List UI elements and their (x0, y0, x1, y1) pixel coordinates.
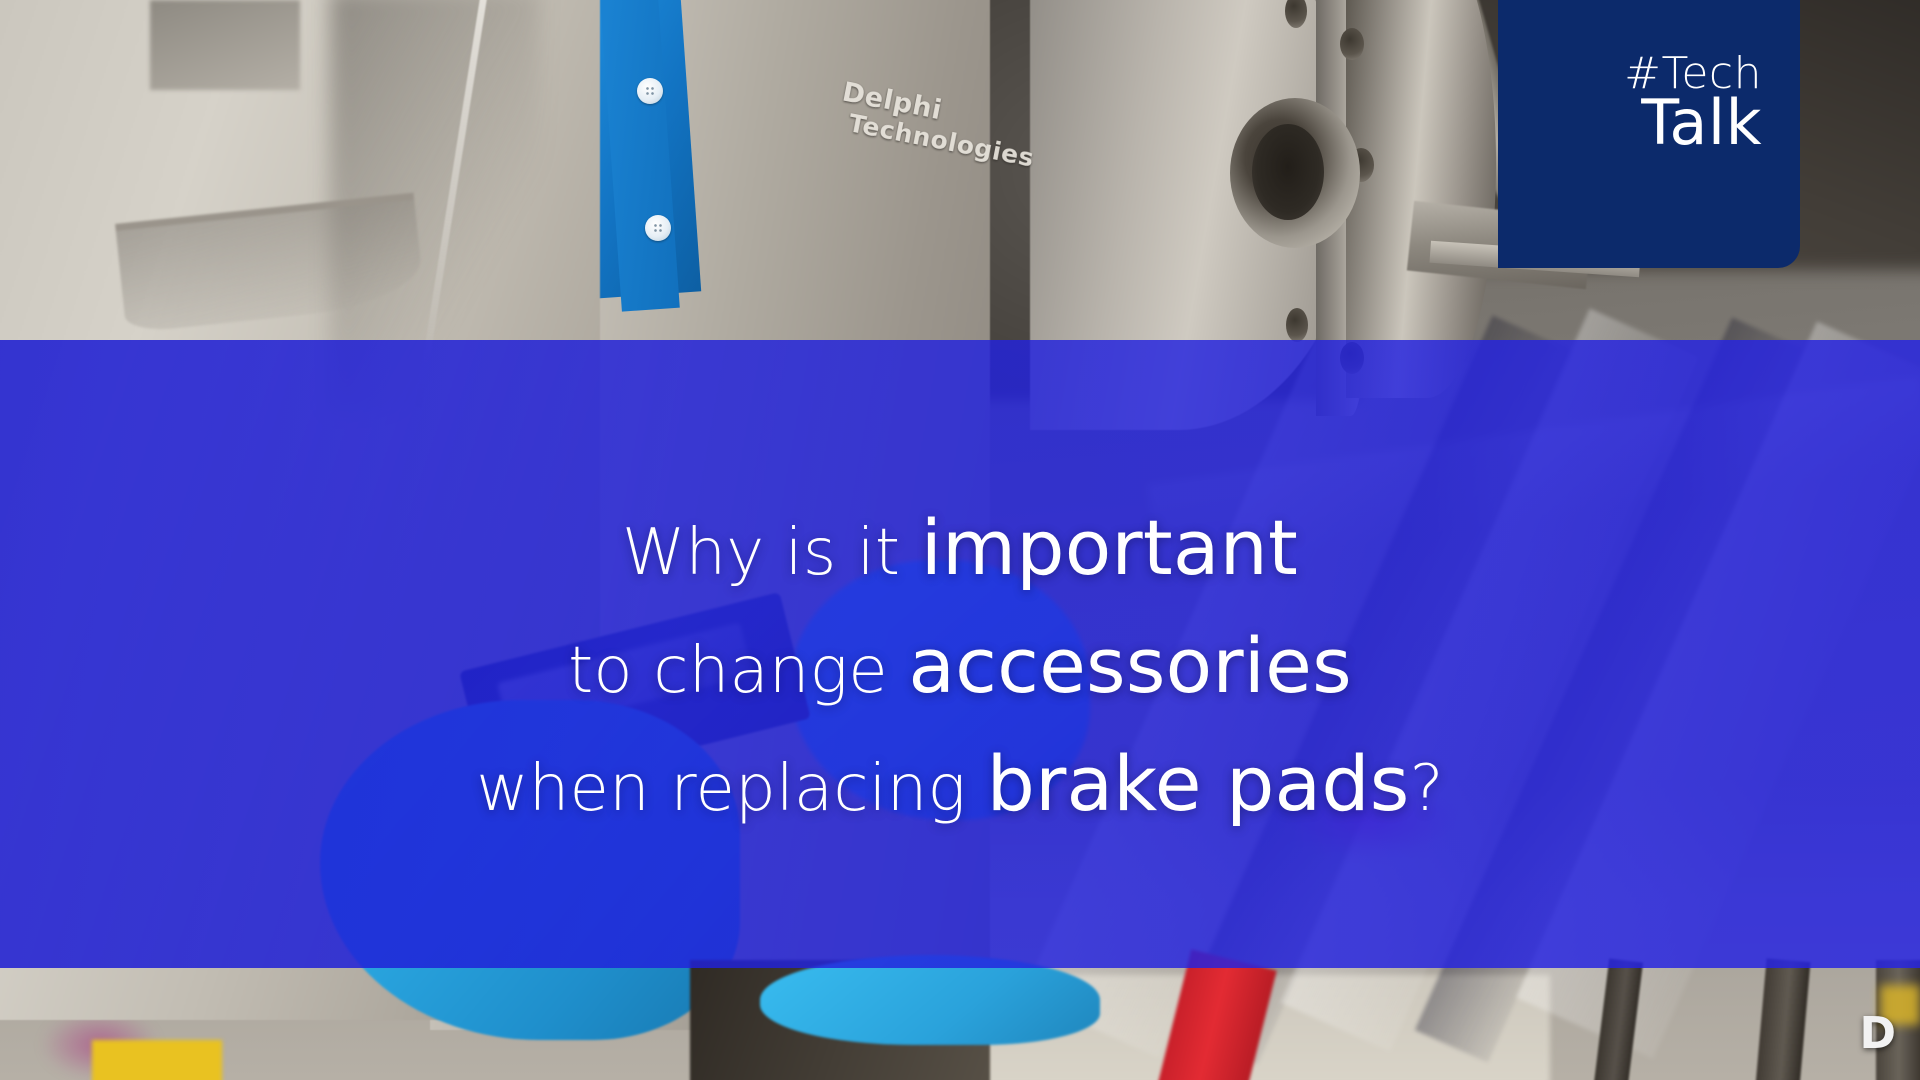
headline-question-mark: ? (1410, 752, 1444, 826)
lug-hole (1286, 308, 1308, 342)
yellow-equipment (92, 1040, 222, 1080)
rotor-drum (1346, 0, 1496, 398)
headline-line-2-light: to change (568, 634, 908, 708)
techtalk-badge-text: #Tech Talk (1624, 52, 1762, 154)
hub-bore (1252, 124, 1324, 220)
delphi-watermark: D (1859, 1012, 1896, 1056)
headline-line-3: when replacing brake pads? (0, 736, 1920, 854)
coat-lapel (150, 0, 300, 90)
gloved-hand (760, 955, 1100, 1045)
headline-question: Why is it important to change accessorie… (0, 500, 1920, 854)
shirt-button (645, 215, 671, 241)
headline-line-1-emphasis: important (921, 503, 1298, 592)
techtalk-badge: #Tech Talk (1498, 0, 1800, 268)
headline-line-3-emphasis: brake pads (987, 739, 1410, 828)
headline-line-2: to change accessories (0, 618, 1920, 736)
headline-line-2-emphasis: accessories (908, 621, 1352, 710)
headline-line-1-light: Why is it (622, 516, 921, 590)
headline-line-1: Why is it important (0, 500, 1920, 618)
shirt-button (637, 78, 663, 104)
lug-hole (1340, 28, 1364, 60)
techtalk-title: Talk (1624, 92, 1762, 154)
headline-line-3-light: when replacing (476, 752, 986, 826)
video-frame: Delphi Technologies Why is it important … (0, 0, 1920, 1080)
